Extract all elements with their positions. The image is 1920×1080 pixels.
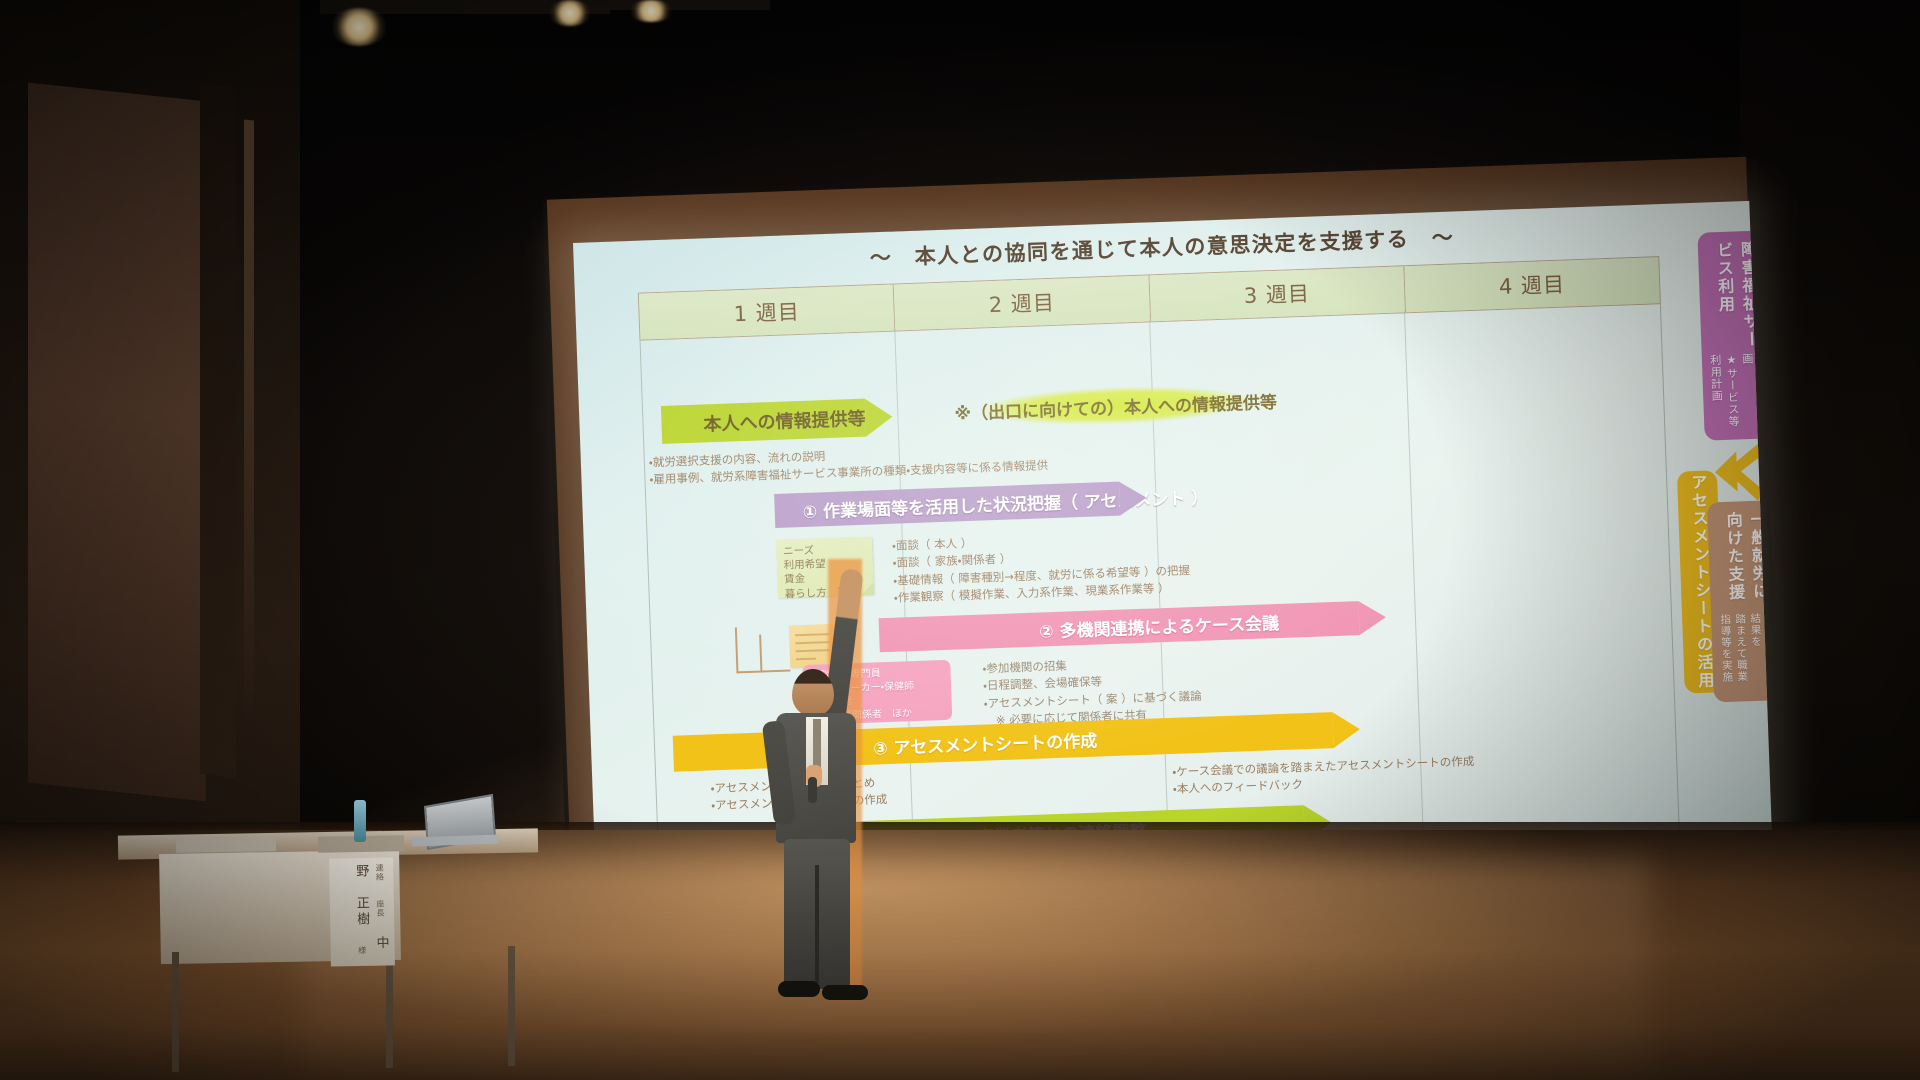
bullets-info-provision: ・就労選択支援の内容、流れの説明 ・雇用事例、就労系障害福祉サービス事業所の種類… bbox=[649, 440, 1049, 489]
ceiling-light bbox=[548, 0, 592, 26]
nameplate-role: 座長 bbox=[376, 900, 385, 918]
arrow-assessment: ① 作業場面等を活用した状況把握（ アセスメント ） bbox=[774, 482, 1120, 528]
table-leg bbox=[386, 948, 393, 1068]
presenter-shoe bbox=[822, 985, 868, 1000]
presentation-slide: ～ 本人との協同を通じて本人の意思決定を支援する ～ 1 週目 2 週目 3 週… bbox=[573, 201, 1774, 927]
arrow-info-provision-label: 本人への情報提供等 bbox=[703, 405, 866, 437]
arrow-case-meeting: ② 多機関連携によるケース会議 bbox=[879, 601, 1360, 652]
arrow-assessment-label: ① 作業場面等を活用した状況把握（ アセスメント ） bbox=[802, 483, 1208, 523]
presenter-head bbox=[792, 669, 834, 717]
ceiling-light bbox=[330, 8, 388, 46]
banner-exit-info-provision-label: ※（出口に向けての）本人への情報提供等 bbox=[954, 387, 1277, 424]
microphone-case bbox=[176, 837, 276, 853]
arrow-case-meeting-label: ② 多機関連携によるケース会議 bbox=[1039, 608, 1280, 642]
handheld-microphone bbox=[808, 777, 817, 803]
wall-panel bbox=[28, 83, 206, 802]
banner-exit-info-provision: ※（出口に向けての）本人への情報提供等 bbox=[942, 378, 1288, 434]
presenter-figure bbox=[770, 655, 890, 1000]
auditorium-stage: ～ 本人との協同を通じて本人の意思決定を支援する ～ 1 週目 2 週目 3 週… bbox=[0, 0, 1920, 1080]
table-leg bbox=[172, 952, 179, 1072]
presenter-tie bbox=[813, 719, 821, 771]
nameplate: 連絡 座長 中野 正樹 様 bbox=[329, 857, 395, 966]
bullets-sheet-right: ・ケース会議での議論を踏まえたアセスメントシートの作成 ・本人へのフィードバック bbox=[1172, 753, 1475, 798]
arrow-sheet-creation-label: ③ アセスメントシートの作成 bbox=[873, 726, 1098, 759]
wall-slit bbox=[244, 119, 254, 720]
bullets-assessment: ・面談（ 本人 ） ・面談（ 家族・関係者 ） ・基礎情報（ 障害種別→程度、就… bbox=[892, 527, 1191, 607]
table-leg bbox=[508, 946, 515, 1066]
presenter-leg-split bbox=[815, 865, 819, 983]
nameplate-sub: 連絡 bbox=[375, 864, 384, 882]
arrow-info-provision: 本人への情報提供等 bbox=[661, 399, 866, 444]
presenter-shoe bbox=[778, 981, 820, 997]
floor-reflection bbox=[300, 860, 1650, 1080]
flow-connector bbox=[759, 635, 762, 673]
ceiling-light bbox=[628, 0, 674, 22]
ceiling-rig-bar bbox=[600, 0, 770, 10]
nameplate-suffix: 様 bbox=[358, 946, 367, 955]
water-bottle bbox=[354, 800, 366, 842]
wall-panel bbox=[200, 84, 236, 778]
flow-connector bbox=[735, 627, 739, 673]
column-divider bbox=[894, 330, 915, 890]
